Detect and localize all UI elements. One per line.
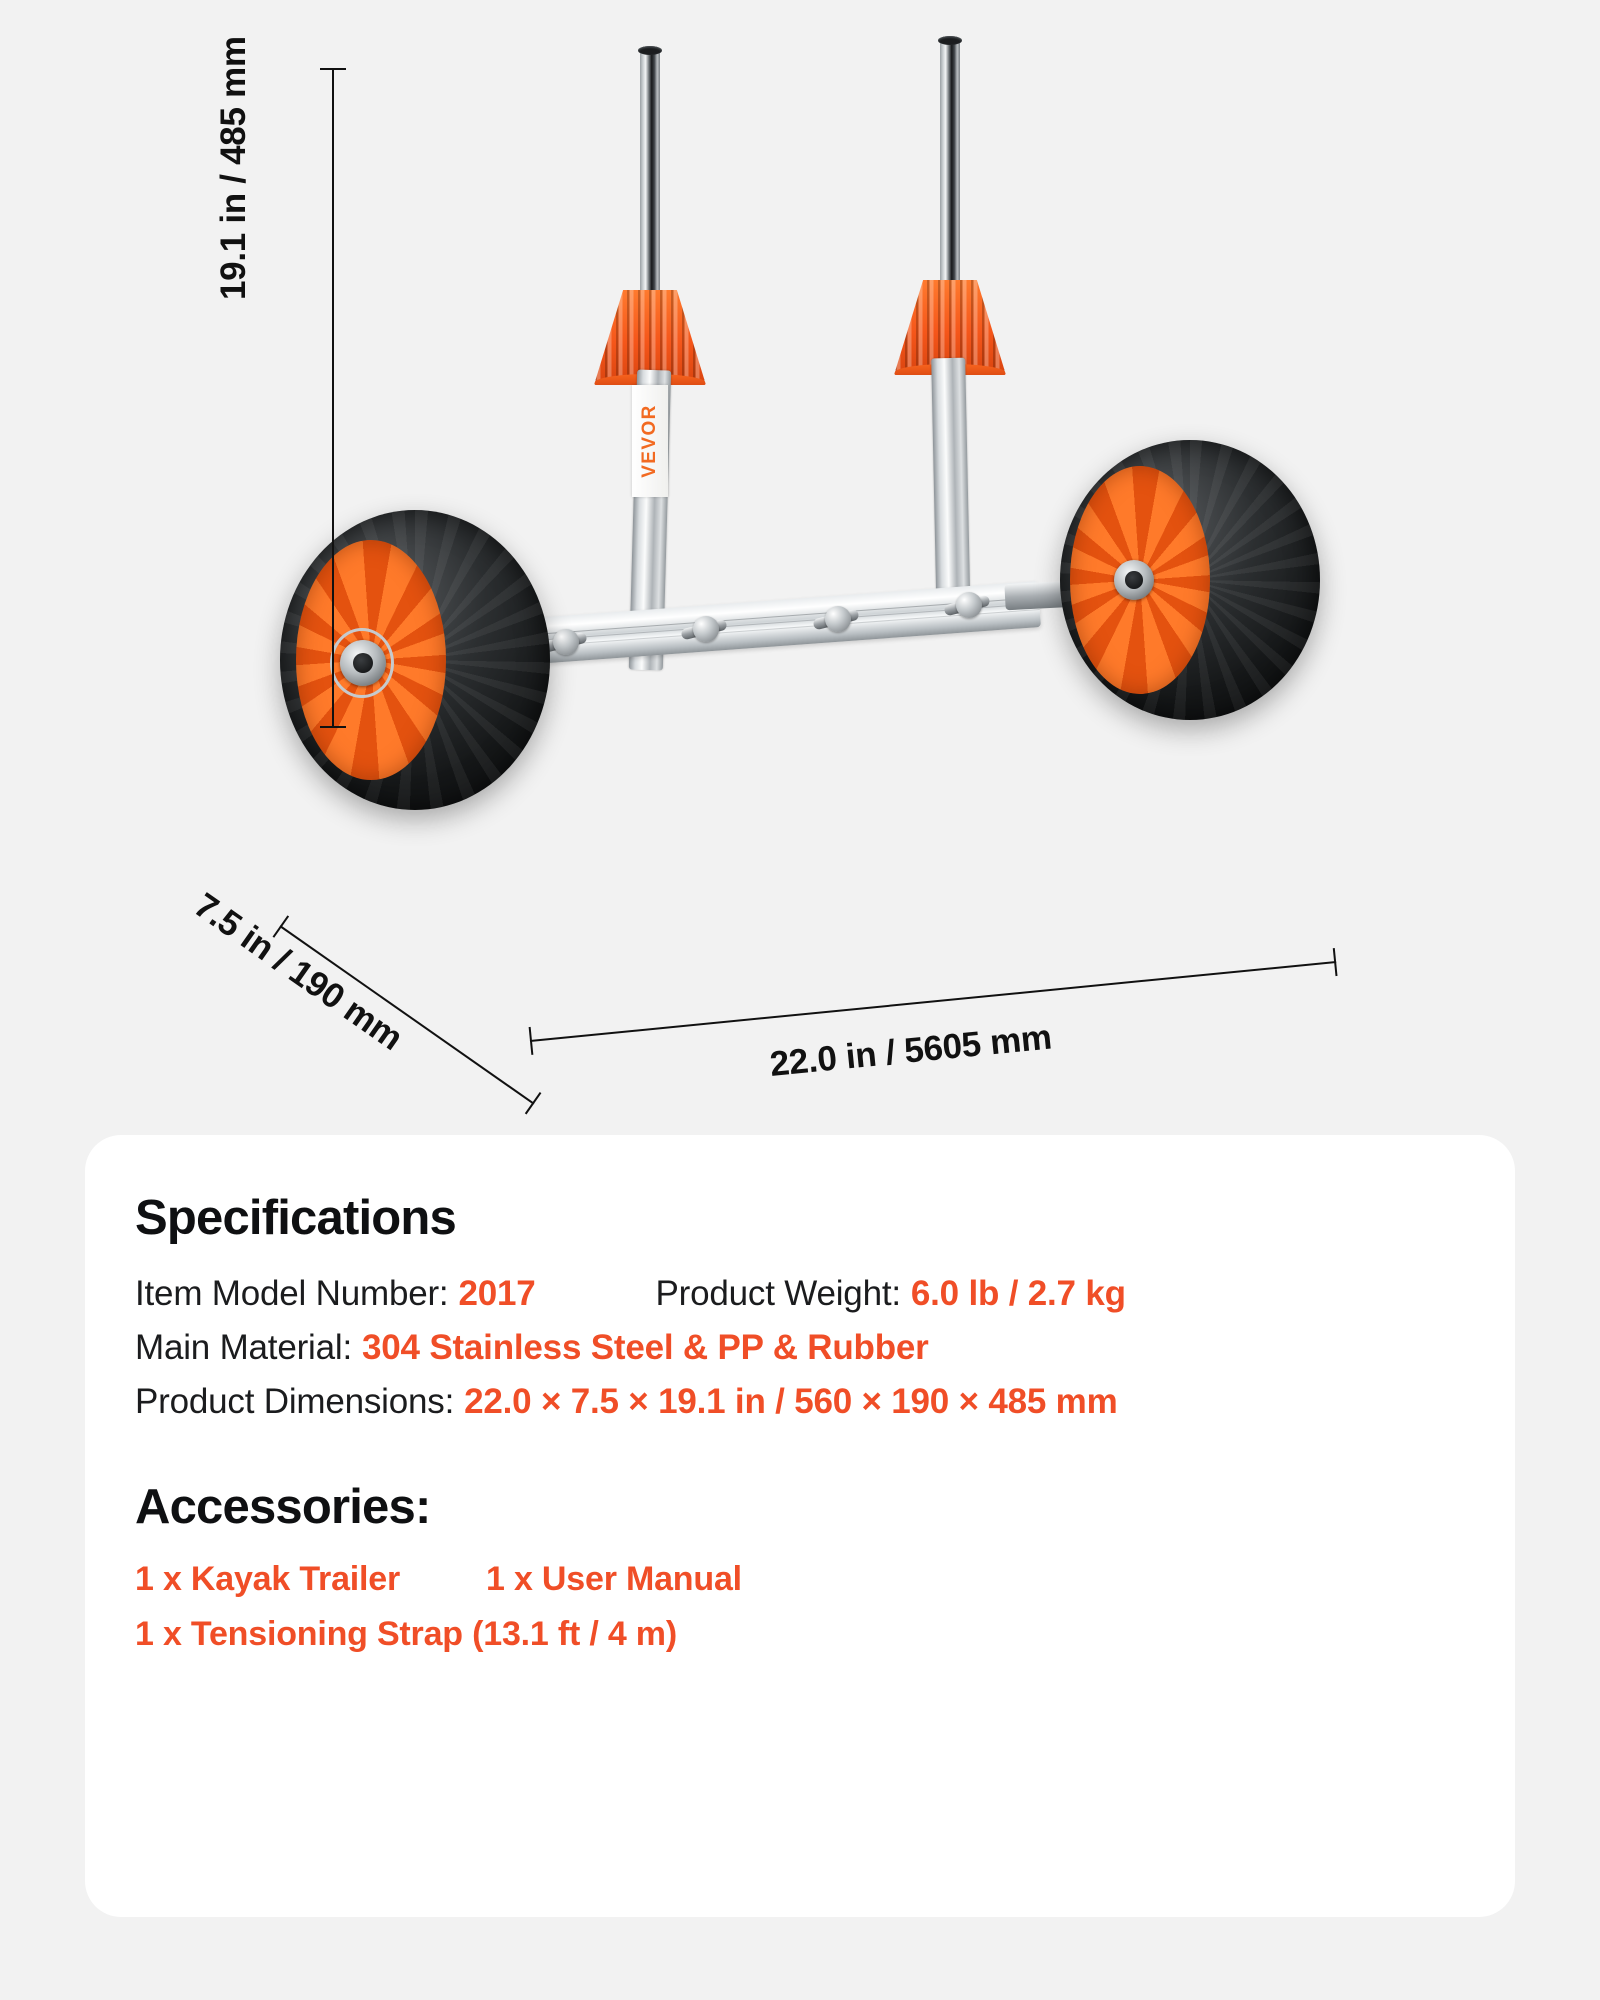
accessory-item: 1 x Tensioning Strap (13.1 ft / 4 m) bbox=[135, 1615, 677, 1654]
accessories-heading: Accessories: bbox=[135, 1482, 1475, 1533]
height-dimension-line bbox=[332, 68, 334, 728]
wing-knob-icon bbox=[817, 602, 857, 636]
accessory-item: 1 x Kayak Trailer bbox=[135, 1560, 400, 1599]
spec-value-material: 304 Stainless Steel & PP & Rubber bbox=[362, 1328, 929, 1368]
wheel-left bbox=[280, 510, 550, 810]
accessories-list: 1 x Kayak Trailer 1 x User Manual 1 x Te… bbox=[135, 1560, 1475, 1654]
spec-row: Product Dimensions: 22.0 × 7.5 × 19.1 in… bbox=[135, 1382, 1475, 1422]
specifications-list: Item Model Number: 2017 Product Weight: … bbox=[135, 1274, 1475, 1422]
spec-value-model: 2017 bbox=[458, 1274, 535, 1314]
height-dimension-label: 19.1 in / 485 mm bbox=[214, 0, 254, 300]
spec-label-material: Main Material: bbox=[135, 1328, 352, 1368]
vevor-brand-sticker: VEVOR bbox=[632, 385, 668, 497]
wing-knob-icon bbox=[685, 612, 725, 646]
accessories-section: Accessories: 1 x Kayak Trailer 1 x User … bbox=[135, 1482, 1475, 1653]
spec-label-model: Item Model Number: bbox=[135, 1274, 448, 1314]
wheel-right bbox=[1060, 440, 1320, 720]
spec-label-dimensions: Product Dimensions: bbox=[135, 1382, 454, 1422]
kayak-trailer-illustration: VEVOR bbox=[330, 40, 1350, 970]
product-hero-image: VEVOR bbox=[0, 0, 1600, 1130]
spec-value-dimensions: 22.0 × 7.5 × 19.1 in / 560 × 190 × 485 m… bbox=[464, 1382, 1117, 1422]
spec-value-weight: 6.0 lb / 2.7 kg bbox=[911, 1274, 1126, 1314]
support-post-right-icon bbox=[940, 40, 960, 290]
specifications-heading: Specifications bbox=[135, 1193, 1475, 1244]
support-post-left-icon bbox=[640, 50, 660, 300]
spec-row: Item Model Number: 2017 Product Weight: … bbox=[135, 1274, 1475, 1314]
spec-label-weight: Product Weight: bbox=[656, 1274, 901, 1314]
accessory-item: 1 x User Manual bbox=[486, 1560, 742, 1599]
accessories-row: 1 x Kayak Trailer 1 x User Manual bbox=[135, 1560, 1475, 1599]
wing-knob-icon bbox=[948, 588, 988, 622]
vevor-brand-text: VEVOR bbox=[639, 404, 661, 478]
product-spec-page: VEVOR bbox=[0, 0, 1600, 2000]
specifications-card: Specifications Item Model Number: 2017 P… bbox=[85, 1135, 1515, 1917]
accessories-row: 1 x Tensioning Strap (13.1 ft / 4 m) bbox=[135, 1615, 1475, 1654]
width-dimension-label: 22.0 in / 5605 mm bbox=[768, 1017, 1053, 1084]
spec-row: Main Material: 304 Stainless Steel & PP … bbox=[135, 1328, 1475, 1368]
wing-knob-icon bbox=[545, 625, 585, 659]
